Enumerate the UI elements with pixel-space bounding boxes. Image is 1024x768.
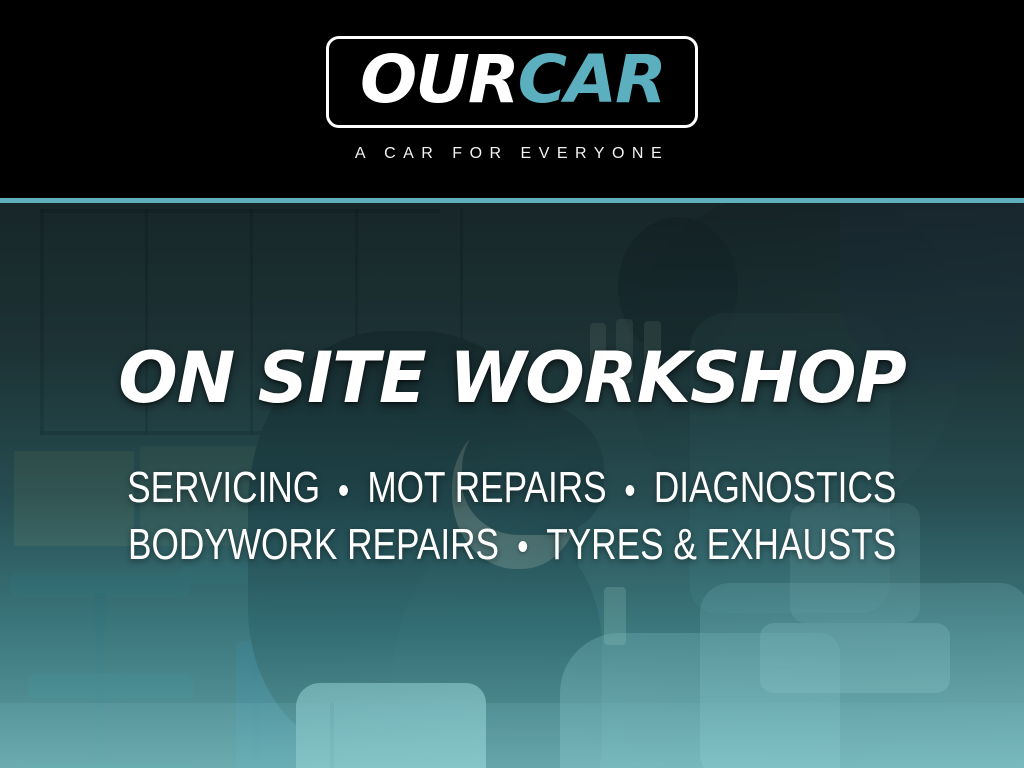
service-servicing: SERVICING	[127, 461, 320, 516]
brand-tagline: A CAR FOR EVERYONE	[355, 145, 669, 163]
brand-logo-our: OUR	[360, 41, 518, 118]
brand-logo[interactable]: OURCAR	[326, 36, 698, 128]
service-bodywork-repairs: BODYWORK REPAIRS	[128, 518, 499, 573]
site-header: OURCAR A CAR FOR EVERYONE	[0, 0, 1024, 198]
service-tyres-exhausts: TYRES & EXHAUSTS	[546, 518, 896, 573]
hero-text-block: ON SITE WORKSHOP SERVICING MOT REPAIRS D…	[0, 203, 1024, 768]
brand-logo-text: OURCAR	[360, 47, 665, 113]
hero-banner: ON SITE WORKSHOP SERVICING MOT REPAIRS D…	[0, 203, 1024, 768]
bullet-separator-icon	[626, 485, 635, 496]
poster-canvas: OURCAR A CAR FOR EVERYONE	[0, 0, 1024, 768]
bullet-separator-icon	[340, 485, 349, 496]
services-line-1: SERVICING MOT REPAIRS DIAGNOSTICS	[127, 461, 896, 516]
brand-logo-car: CAR	[517, 41, 664, 118]
services-line-2: BODYWORK REPAIRS TYRES & EXHAUSTS	[128, 518, 896, 573]
service-diagnostics: DIAGNOSTICS	[654, 461, 897, 516]
bullet-separator-icon	[518, 541, 527, 552]
hero-headline: ON SITE WORKSHOP	[118, 343, 906, 413]
service-mot-repairs: MOT REPAIRS	[368, 461, 607, 516]
